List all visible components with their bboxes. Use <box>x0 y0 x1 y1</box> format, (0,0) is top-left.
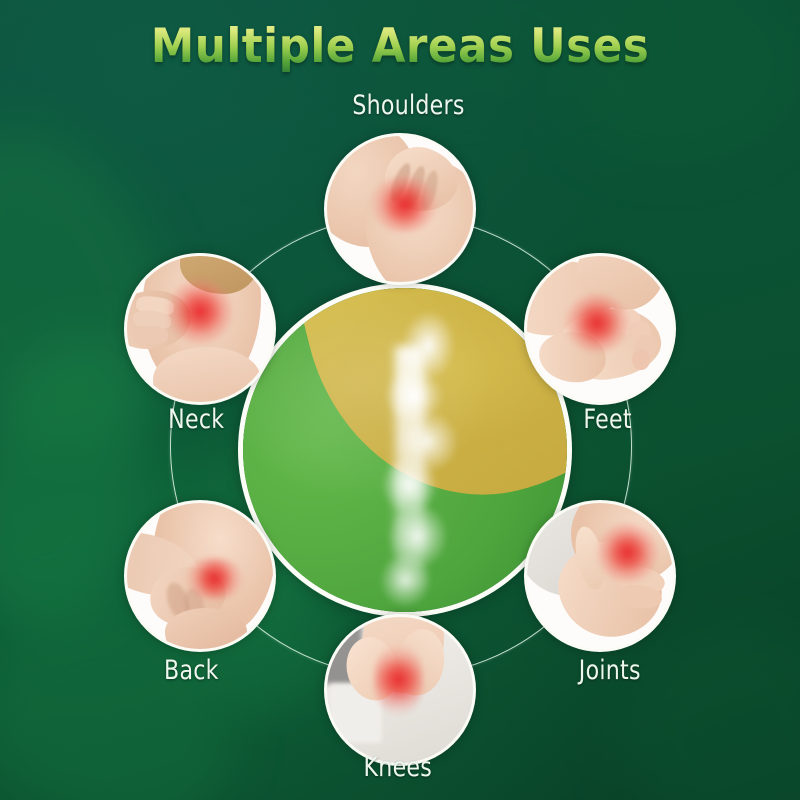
area-node-knees[interactable] <box>324 614 476 766</box>
page-title: Multiple Areas Uses <box>28 19 772 74</box>
area-node-shoulders[interactable] <box>324 133 476 285</box>
area-node-neck[interactable] <box>124 253 276 405</box>
area-photo-neck <box>124 253 276 405</box>
area-node-feet[interactable] <box>524 253 676 405</box>
area-photo-feet <box>524 253 676 405</box>
area-photo-knees <box>324 614 476 766</box>
product-center-circle <box>238 283 572 617</box>
area-photo-back <box>124 500 276 652</box>
area-node-back[interactable] <box>124 500 276 652</box>
area-label-neck: Neck <box>168 404 224 435</box>
promo-graphic: Multiple Areas Uses Shoulders <box>0 0 800 800</box>
area-node-joints[interactable] <box>524 500 676 652</box>
gel-sheen <box>243 288 567 612</box>
area-label-feet: Feet <box>583 404 631 435</box>
area-photo-shoulders <box>324 133 476 285</box>
area-label-knees: Knees <box>364 752 433 783</box>
area-label-joints: Joints <box>579 655 641 686</box>
area-label-back: Back <box>164 655 219 686</box>
area-label-shoulders: Shoulders <box>352 90 464 121</box>
area-photo-joints <box>524 500 676 652</box>
